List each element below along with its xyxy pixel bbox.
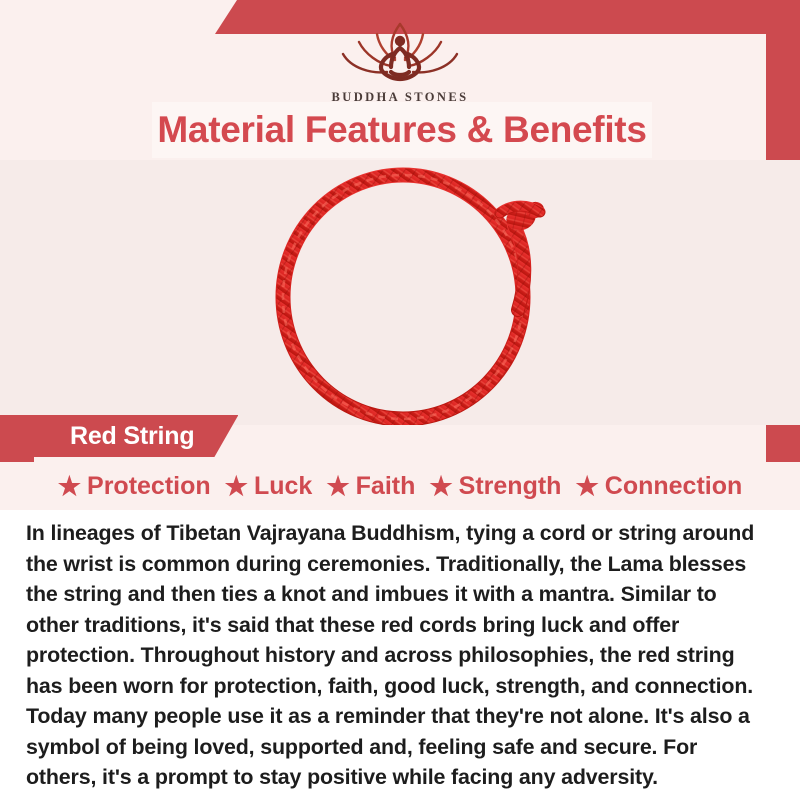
brand-logo: BUDDHA STONES — [0, 14, 800, 105]
benefit-label: Luck — [254, 472, 312, 501]
product-tag: Red String — [18, 415, 238, 457]
benefit-label: Strength — [459, 472, 562, 501]
star-icon: ★ — [429, 473, 452, 499]
benefit-label: Connection — [605, 472, 743, 501]
star-icon: ★ — [326, 473, 349, 499]
product-image — [0, 160, 800, 425]
benefit-label: Protection — [87, 472, 211, 501]
page-title: Material Features & Benefits — [157, 109, 646, 151]
benefit-item: ★ Luck — [225, 472, 313, 501]
benefit-item: ★ Strength — [429, 472, 561, 501]
description-text: In lineages of Tibetan Vajrayana Buddhis… — [26, 518, 770, 793]
benefit-item: ★ Protection — [58, 472, 211, 501]
benefits-list: ★ Protection ★ Luck ★ Faith ★ Strength ★… — [0, 462, 800, 510]
benefit-item: ★ Connection — [575, 472, 742, 501]
benefit-item: ★ Faith — [326, 472, 415, 501]
tag-accent-strip — [0, 415, 18, 457]
star-icon: ★ — [225, 473, 248, 499]
star-icon: ★ — [575, 473, 598, 499]
star-icon: ★ — [58, 473, 81, 499]
product-tag-label: Red String — [70, 422, 194, 451]
title-banner: Material Features & Benefits — [152, 102, 652, 158]
description-section: In lineages of Tibetan Vajrayana Buddhis… — [0, 510, 800, 800]
benefit-label: Faith — [356, 472, 416, 501]
red-string-bracelet-illustration — [0, 160, 800, 425]
lotus-meditation-icon — [325, 14, 475, 88]
infographic-page: BUDDHA STONES Material Features & Benefi… — [0, 0, 800, 800]
